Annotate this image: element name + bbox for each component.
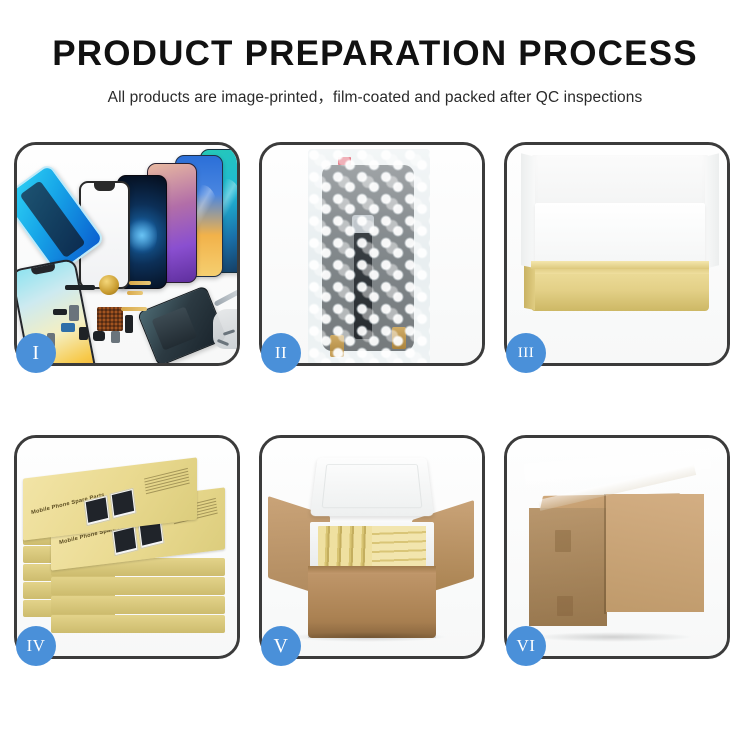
part-sensor [125, 315, 133, 333]
kraft-tray-base-icon [531, 265, 709, 311]
kraft-tray-lip-icon [531, 261, 709, 269]
step-badge-1: I [16, 333, 56, 373]
step-panel-2[interactable]: II [259, 142, 485, 366]
product-preparation-infographic: PRODUCT PREPARATION PROCESS All products… [0, 0, 750, 750]
step-4-image: Mobile Phone Spare Parts Mobile Phone Sp… [17, 438, 237, 656]
step-badge-4: IV [16, 626, 56, 666]
step-panel-4[interactable]: Mobile Phone Spare Parts Mobile Phone Sp… [14, 435, 240, 659]
step-badge-3: III [506, 333, 546, 373]
sealed-carton-shadow [533, 632, 693, 642]
foam-lid-open-icon [310, 458, 434, 517]
part-flex-cable-1 [129, 281, 151, 285]
stacked-box-r2 [51, 577, 225, 595]
step-2-image [262, 145, 482, 363]
step-panel-5[interactable]: V [259, 435, 485, 659]
tweezers-icon [214, 288, 237, 306]
carton-shadow [288, 632, 448, 642]
step-panel-1[interactable]: I [14, 142, 240, 366]
part-connector-2 [61, 323, 75, 332]
stacked-box-r3 [51, 596, 225, 614]
step-panel-6[interactable]: VI [504, 435, 730, 659]
part-flex-cable-3 [121, 307, 147, 311]
step-badge-6: VI [506, 626, 546, 666]
box-spec-lines-1 [144, 468, 190, 496]
step-6-image [507, 438, 727, 656]
part-button [111, 331, 120, 343]
box-artwork-2a [112, 525, 139, 556]
part-connector-3 [79, 327, 88, 340]
part-camera [93, 331, 105, 341]
header: PRODUCT PREPARATION PROCESS All products… [0, 0, 750, 107]
step-3-image [507, 145, 727, 363]
part-earpiece [65, 285, 95, 290]
step-5-image [262, 438, 482, 656]
carton-front-icon [308, 566, 436, 638]
part-flex-cable-2 [127, 291, 143, 295]
carton-tab-upper [555, 530, 571, 552]
carton-tab-lower [557, 596, 573, 616]
carton-corner-seam [604, 494, 606, 614]
bubble-highlight-texture [308, 149, 430, 363]
step-1-image [17, 145, 237, 363]
gold-speaker-icon [99, 275, 119, 295]
box-artwork-1a [84, 495, 111, 526]
box-artwork-1b [110, 488, 137, 519]
step-panel-3[interactable]: III [504, 142, 730, 366]
bubble-wrap-bag [308, 149, 430, 363]
packed-boxes-row-2-icon [372, 526, 426, 566]
part-shield [53, 309, 67, 315]
part-connector-1 [69, 305, 79, 321]
step-badge-5: V [261, 626, 301, 666]
copper-mesh-icon [97, 307, 123, 331]
steps-grid: I II [14, 142, 736, 683]
carton-right-face-icon [606, 494, 704, 612]
box-stack: Mobile Phone Spare Parts Mobile Phone Sp… [23, 466, 235, 642]
step-badge-2: II [261, 333, 301, 373]
page-subtitle: All products are image-printed，film-coat… [0, 73, 750, 107]
phone-parts-illustration [17, 145, 237, 363]
page-title: PRODUCT PREPARATION PROCESS [0, 0, 750, 73]
stacked-box-r4 [51, 615, 225, 633]
